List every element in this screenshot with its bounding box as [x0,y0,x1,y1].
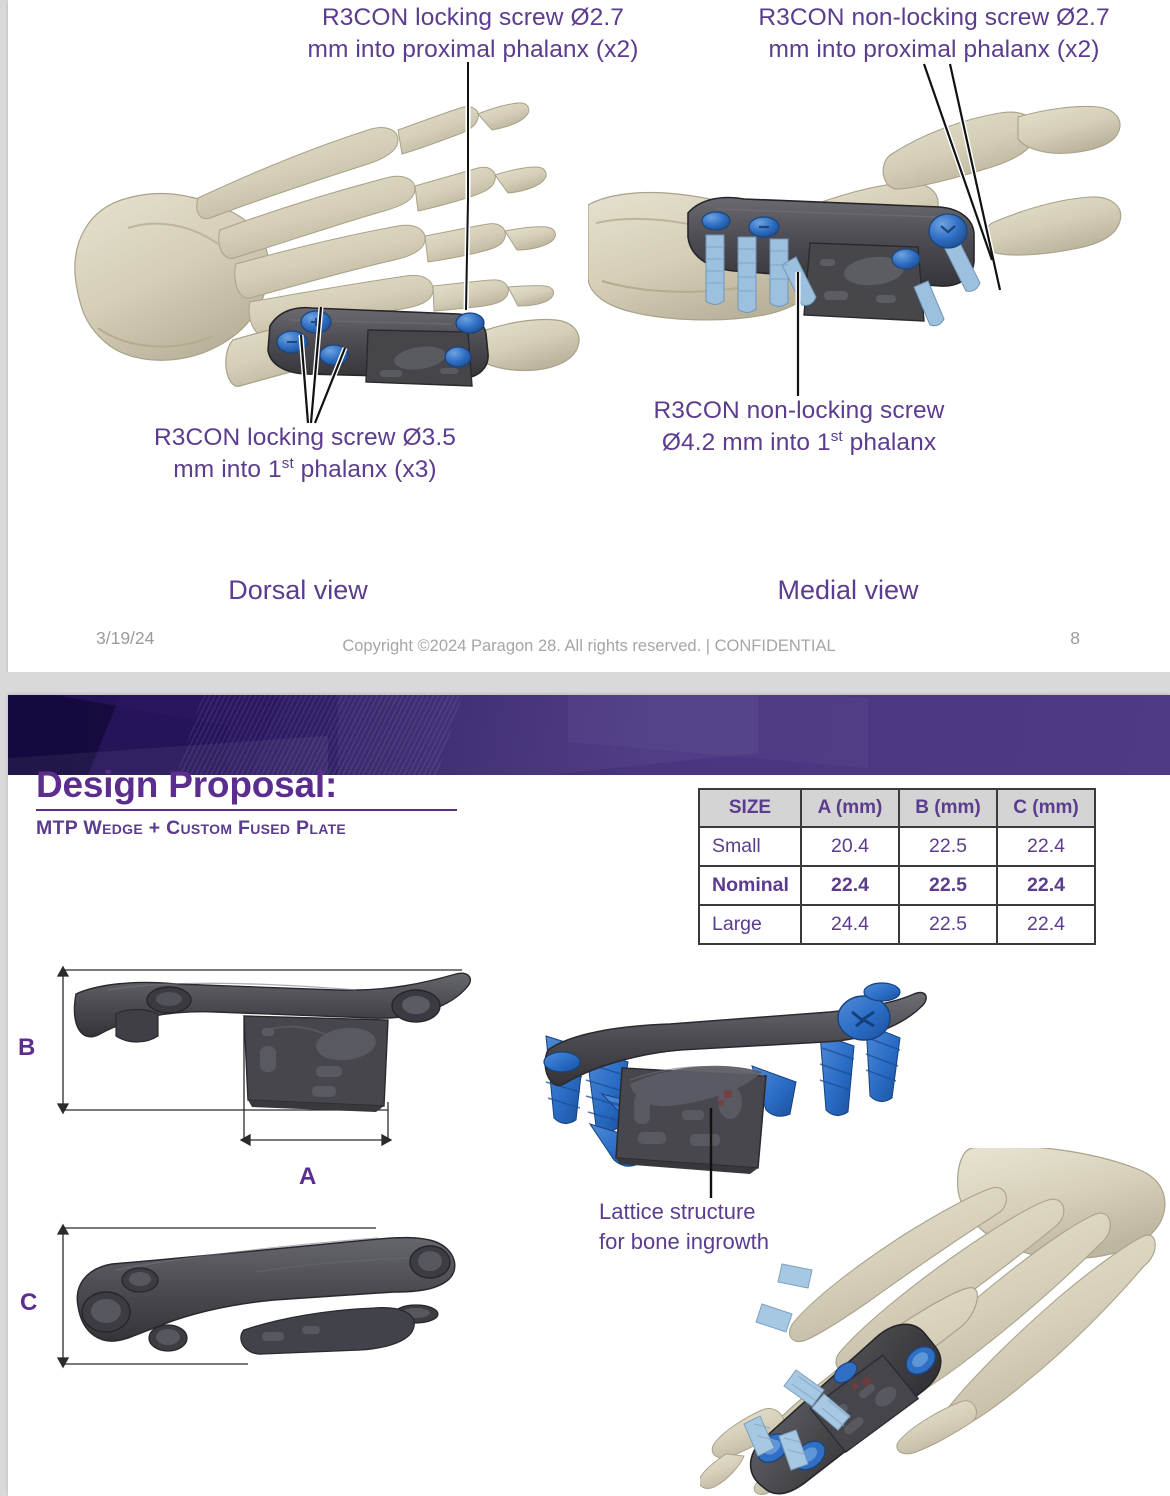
column-header-a-mm: A (mm) [801,789,899,827]
ordinal-suffix: st [282,455,294,472]
annotation-line-2: mm into proximal phalanx (x2) [280,34,666,66]
annotation-line-1: R3CON locking screw Ø3.5 [120,422,490,454]
annotation-line-1: R3CON non-locking screw [638,395,960,427]
cell-c: 22.4 [997,866,1095,905]
annotation-nonlocking-screw-2-7: R3CON non-locking screw Ø2.7 mm into pro… [726,2,1142,67]
leader-lines-top-left [408,60,518,320]
plate-side-view-ab [16,962,496,1187]
leader-line-bottom-right [778,270,818,400]
dimension-label-b: B [18,1034,35,1062]
slide-header-banner [8,695,1170,775]
size-dimensions-table: SIZE A (mm) B (mm) C (mm) Small 20.4 22.… [698,788,1096,945]
column-header-b-mm: B (mm) [899,789,997,827]
view-label-dorsal: Dorsal view [158,575,438,606]
dimension-label-c: C [20,1289,37,1317]
column-header-size: SIZE [699,789,801,827]
annotation-line-2-suffix: phalanx [843,429,936,456]
cell-b: 22.5 [899,827,997,866]
plate-plan-view-c [16,1214,496,1389]
cell-a: 20.4 [801,827,899,866]
footer-copyright: Copyright ©2024 Paragon 28. All rights r… [8,637,1170,656]
cell-b: 22.5 [899,905,997,944]
medial-view-image [588,95,1128,395]
table-row: Large 24.4 22.5 22.4 [699,905,1095,944]
annotation-locking-screw-2-7: R3CON locking screw Ø2.7 mm into proxima… [280,2,666,67]
cell-b: 22.5 [899,866,997,905]
annotation-line-2: mm into proximal phalanx (x2) [726,34,1142,66]
slide-1: R3CON locking screw Ø2.7 mm into proxima… [8,0,1170,672]
leader-lines-bottom-left [263,295,493,430]
dimension-label-a: A [299,1163,316,1191]
annotation-line-1: R3CON non-locking screw Ø2.7 [726,2,1142,34]
cell-a: 24.4 [801,905,899,944]
annotation-line-2-prefix: Ø4.2 mm into 1 [662,429,831,456]
table-row: Nominal 22.4 22.5 22.4 [699,866,1095,905]
foot-with-implant-image [700,1148,1170,1496]
leader-lines-top-right [888,62,1008,297]
table-row: Small 20.4 22.5 22.4 [699,827,1095,866]
annotation-line-2-text: mm into proximal phalanx (x2) [307,36,638,63]
annotation-line-1: R3CON locking screw Ø2.7 [280,2,666,34]
cell-a: 22.4 [801,866,899,905]
page-title: Design Proposal: [36,764,457,811]
annotation-line-2: mm into 1st phalanx (x3) [120,454,490,486]
cell-size-label: Nominal [699,866,801,905]
presentation-pages: R3CON locking screw Ø2.7 mm into proxima… [0,0,1170,1496]
column-header-c-mm: C (mm) [997,789,1095,827]
ordinal-suffix: st [831,428,843,445]
view-label-medial: Medial view [708,575,988,606]
table-header-row: SIZE A (mm) B (mm) C (mm) [699,789,1095,827]
cell-c: 22.4 [997,905,1095,944]
slide-gap [0,672,1170,695]
footer-page-number: 8 [1070,628,1080,649]
cell-c: 22.4 [997,827,1095,866]
annotation-line-2: Ø4.2 mm into 1st phalanx [638,427,960,459]
cell-size-label: Large [699,905,801,944]
annotation-nonlocking-screw-4-2: R3CON non-locking screw Ø4.2 mm into 1st… [638,395,960,460]
annotation-line-2-suffix: phalanx (x3) [294,456,437,483]
cell-size-label: Small [699,827,801,866]
annotation-locking-screw-3-5: R3CON locking screw Ø3.5 mm into 1st pha… [120,422,490,487]
annotation-line-2-text: mm into proximal phalanx (x2) [768,36,1099,63]
design-proposal-title-block: Design Proposal: MTP Wedge + Custom Fuse… [36,764,457,840]
page-subtitle: MTP Wedge + Custom Fused Plate [36,817,457,840]
annotation-line-2-prefix: mm into 1 [173,456,281,483]
